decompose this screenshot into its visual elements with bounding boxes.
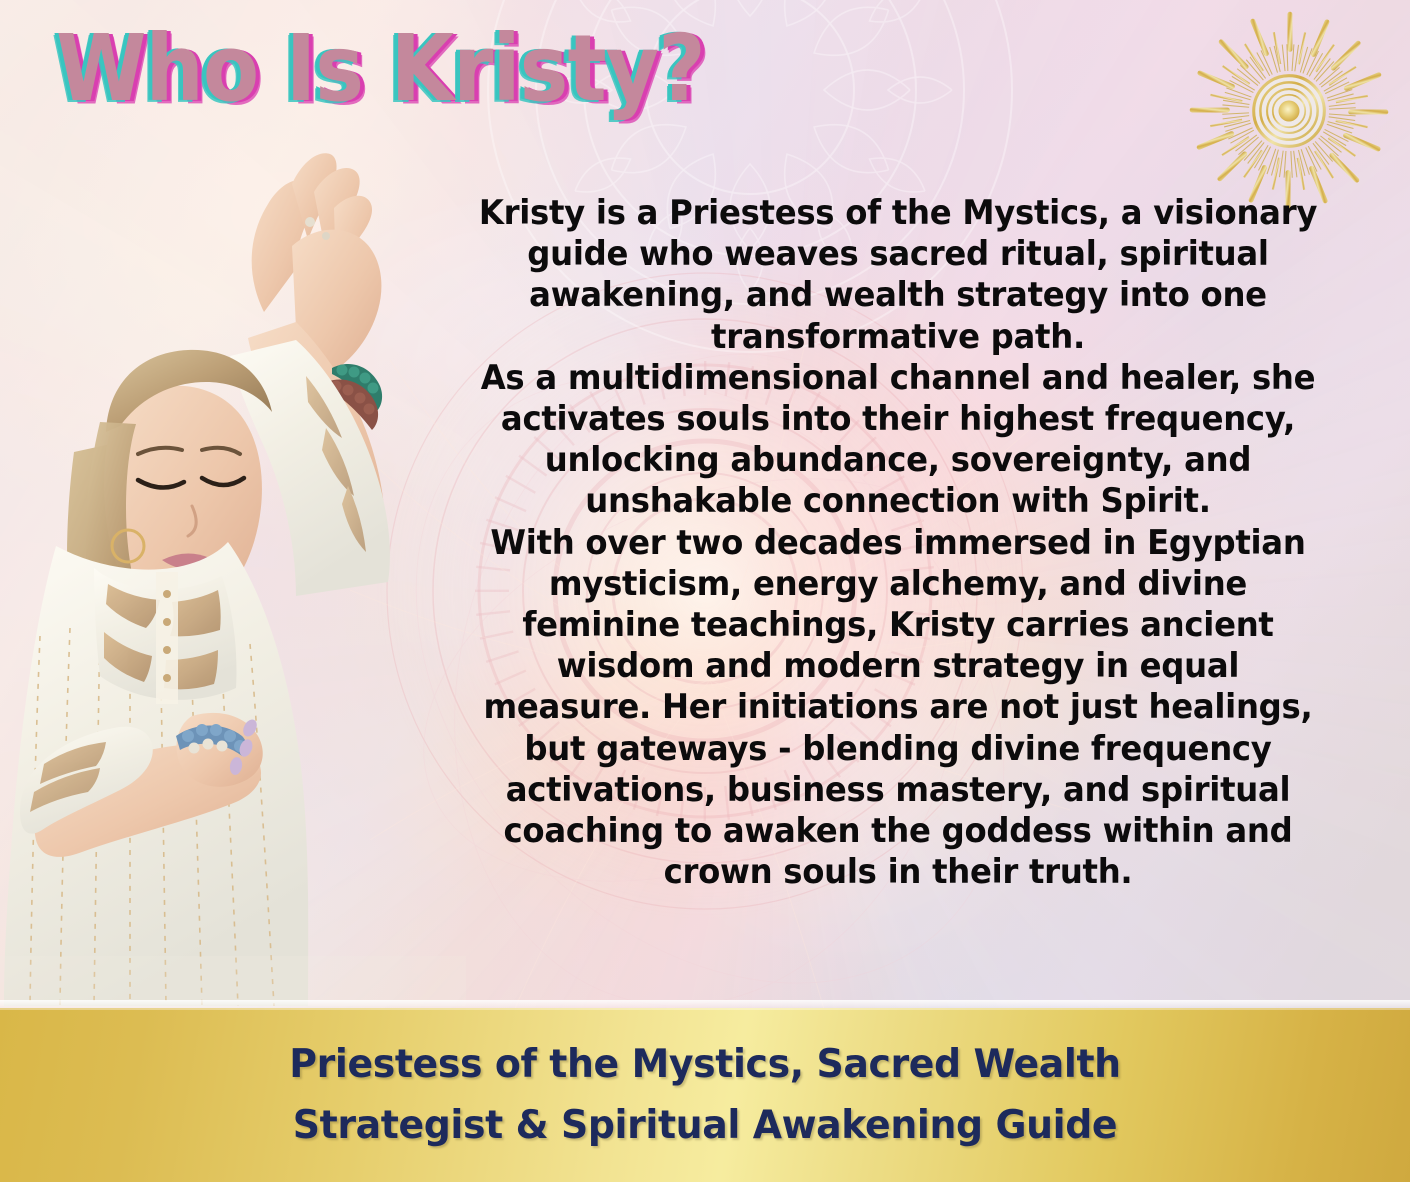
- bio-paragraph-2: As a multidimensional channel and healer…: [468, 357, 1329, 522]
- bio-paragraph-3: With over two decades immersed in Egypti…: [468, 522, 1329, 893]
- gold-sunburst-mandala-icon: [1180, 6, 1398, 216]
- bio-paragraph-1: Kristy is a Priestess of the Mystics, a …: [468, 192, 1329, 357]
- footer-tagline-line-2: Strategist & Spiritual Awakening Guide: [293, 1097, 1117, 1154]
- bio-text-block: Kristy is a Priestess of the Mystics, a …: [468, 192, 1329, 892]
- footer-tagline: Priestess of the Mystics, Sacred Wealth …: [21, 1008, 1389, 1182]
- footer-divider-line: [0, 1000, 1410, 1008]
- footer-tagline-line-1: Priestess of the Mystics, Sacred Wealth: [289, 1036, 1120, 1093]
- poster-canvas: Who Is Kristy? Kristy is a Priestess of …: [0, 0, 1410, 1182]
- page-title: Who Is Kristy?: [56, 16, 705, 122]
